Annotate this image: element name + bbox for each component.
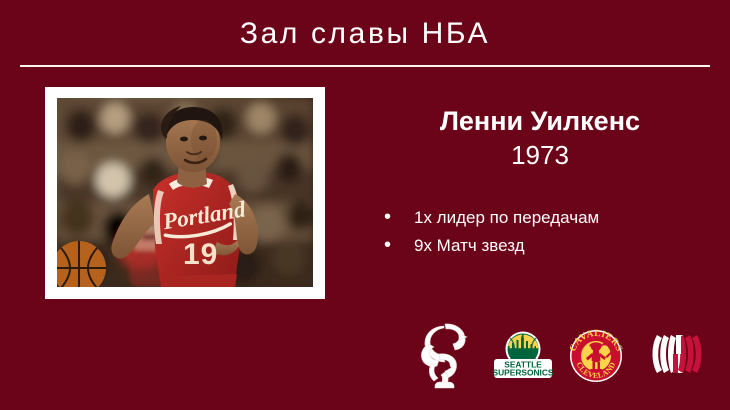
bullet-icon: • xyxy=(380,231,414,259)
slide-root: Зал славы НБА xyxy=(0,0,730,410)
supersonics-logo: SEATTLE SUPERSONICS xyxy=(488,330,558,380)
page-title: Зал славы НБА xyxy=(0,16,730,52)
achievement-text: 9x Матч звезд xyxy=(414,232,525,260)
team-logos-row: SEATTLE SUPERSONICS xyxy=(410,318,710,396)
cavaliers-logo: CAVALIERS CLEVELAND xyxy=(565,326,627,386)
hawks-logo xyxy=(415,320,471,392)
list-item: • 9x Матч звезд xyxy=(380,231,710,259)
title-divider xyxy=(20,65,710,67)
induction-year: 1973 xyxy=(350,140,730,171)
achievements-list: • 1x лидер по передачам • 9x Матч звезд xyxy=(380,203,710,259)
player-photo: Portland 19 xyxy=(57,98,313,287)
player-name: Ленни Уилкенс xyxy=(350,105,730,137)
bullet-icon: • xyxy=(380,203,414,231)
list-item: • 1x лидер по передачам xyxy=(380,203,710,231)
trail-blazers-logo xyxy=(647,321,707,387)
player-photo-frame: Portland 19 xyxy=(45,87,325,299)
svg-text:19: 19 xyxy=(183,238,218,271)
achievement-text: 1x лидер по передачам xyxy=(414,204,599,232)
supersonics-line2: SUPERSONICS xyxy=(493,368,554,378)
